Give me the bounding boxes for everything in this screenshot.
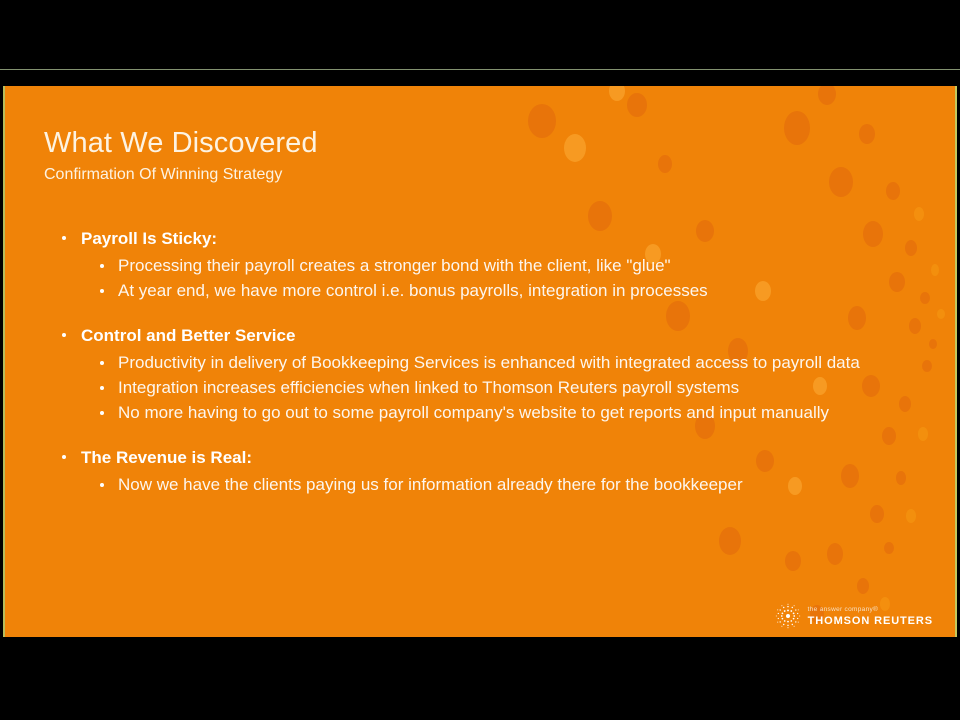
bullet-sublist: Processing their payroll creates a stron…: [57, 254, 867, 303]
list-item: Integration increases efficiencies when …: [57, 376, 867, 400]
bullet-marker-icon: [100, 361, 104, 365]
bullet-sublist: Productivity in delivery of Bookkeeping …: [57, 351, 867, 425]
slide-title-block: What We Discovered Confirmation Of Winni…: [44, 126, 318, 186]
list-item-label: Integration increases efficiencies when …: [118, 378, 739, 397]
bullet-marker-icon: [100, 411, 104, 415]
bullet-marker-icon: [62, 333, 66, 337]
list-item-label: At year end, we have more control i.e. b…: [118, 281, 708, 300]
list-item: Processing their payroll creates a stron…: [57, 254, 867, 278]
bullet-group: Control and Better Service Productivity …: [57, 323, 867, 425]
bullet-marker-icon: [62, 455, 66, 459]
thomson-reuters-logo: the answer company® THOMSON REUTERS: [775, 603, 933, 629]
bullet-heading: Payroll Is Sticky:: [57, 226, 867, 251]
bullet-marker-icon: [62, 236, 66, 240]
list-item-label: Productivity in delivery of Bookkeeping …: [118, 353, 860, 372]
bullet-marker-icon: [100, 289, 104, 293]
presentation-slide: What We Discovered Confirmation Of Winni…: [3, 86, 957, 637]
logo-tagline: the answer company®: [808, 606, 933, 614]
logo-text-block: the answer company® THOMSON REUTERS: [808, 606, 933, 627]
list-item-label: Processing their payroll creates a stron…: [118, 256, 671, 275]
list-item: No more having to go out to some payroll…: [57, 401, 867, 425]
bullet-heading-label: Payroll Is Sticky:: [81, 229, 217, 248]
bullet-heading-label: The Revenue is Real:: [81, 448, 252, 467]
bullet-sublist: Now we have the clients paying us for in…: [57, 473, 867, 497]
bullet-marker-icon: [100, 264, 104, 268]
letterbox-divider-rule: [0, 69, 960, 70]
bullet-marker-icon: [100, 483, 104, 487]
bullet-marker-icon: [100, 386, 104, 390]
list-item-label: Now we have the clients paying us for in…: [118, 475, 743, 494]
thomson-reuters-knowledge-mark-icon: [775, 603, 801, 629]
bullet-group: Payroll Is Sticky: Processing their payr…: [57, 226, 867, 303]
bullet-group: The Revenue is Real: Now we have the cli…: [57, 445, 867, 497]
list-item: Now we have the clients paying us for in…: [57, 473, 867, 497]
video-player-frame: What We Discovered Confirmation Of Winni…: [0, 0, 960, 720]
slide-body-content: Payroll Is Sticky: Processing their payr…: [57, 226, 867, 498]
list-item-label: No more having to go out to some payroll…: [118, 403, 829, 422]
page-subtitle: Confirmation Of Winning Strategy: [44, 164, 318, 186]
bullet-heading: The Revenue is Real:: [57, 445, 867, 470]
bullet-heading: Control and Better Service: [57, 323, 867, 348]
logo-wordmark: THOMSON REUTERS: [808, 615, 933, 627]
bullet-heading-label: Control and Better Service: [81, 326, 295, 345]
list-item: At year end, we have more control i.e. b…: [57, 279, 867, 303]
page-title: What We Discovered: [44, 126, 318, 160]
list-item: Productivity in delivery of Bookkeeping …: [57, 351, 867, 375]
